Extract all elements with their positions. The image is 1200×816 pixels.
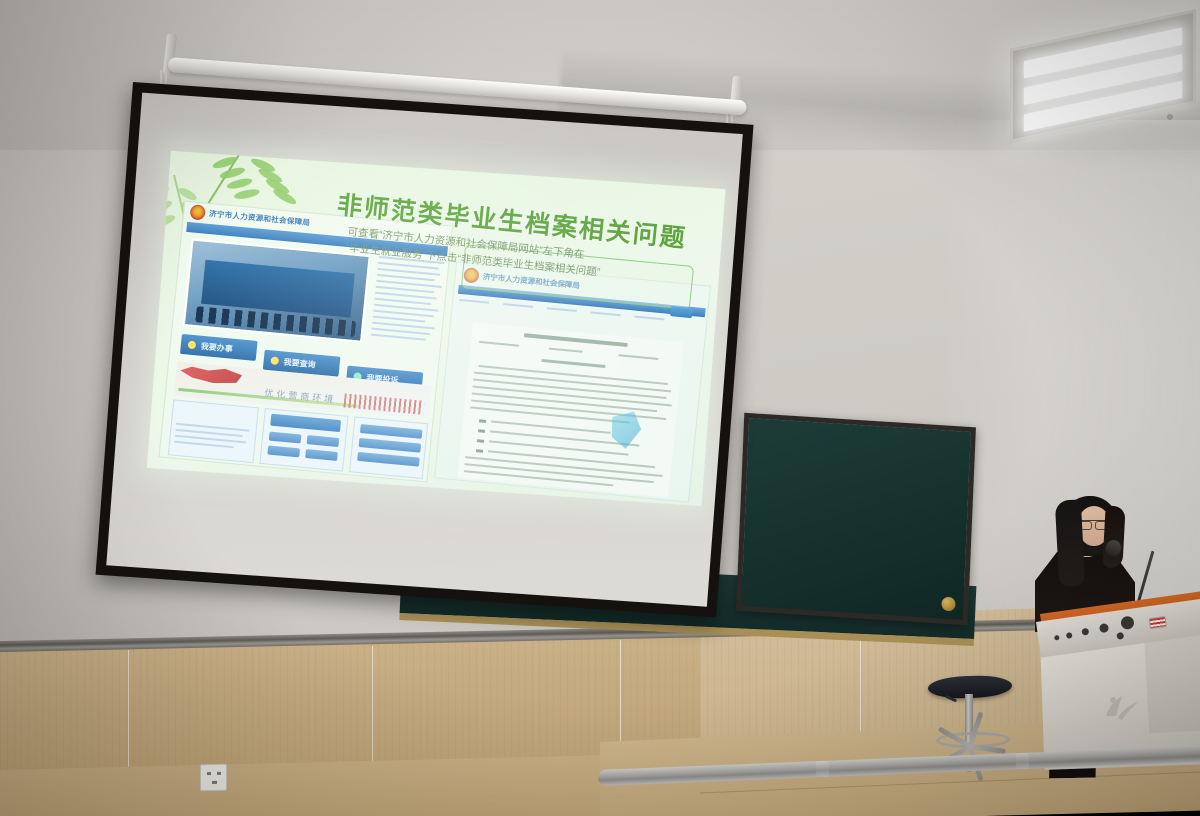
banner-bars-graphic	[343, 393, 424, 414]
podium-button[interactable]	[1066, 632, 1073, 639]
callout-tag	[670, 306, 693, 318]
doc-page	[457, 322, 684, 497]
star-icon	[188, 341, 197, 350]
screen-surface: 济宁市人力资源和社会保障局	[106, 93, 743, 607]
site-hero-image	[183, 238, 371, 342]
outlet-slot	[212, 781, 217, 784]
site-service-button[interactable]: 我要办事	[180, 334, 258, 361]
site-button-label: 我要办事	[200, 340, 233, 354]
outlet-slot	[207, 772, 211, 775]
doc-page-title	[524, 333, 628, 347]
doc-page-subtitle	[541, 359, 605, 368]
map-shape-icon	[179, 364, 242, 386]
site-card[interactable]	[349, 416, 428, 479]
podium-logo-icon	[1100, 690, 1140, 724]
site-card[interactable]	[168, 399, 259, 463]
circle-icon	[270, 356, 279, 365]
projected-slide: 济宁市人力资源和社会保障局	[147, 151, 726, 506]
speaker-hair-strand	[1055, 499, 1085, 586]
site-button-label: 我要查询	[283, 356, 316, 370]
podium-button[interactable]	[1120, 615, 1135, 630]
podium-button[interactable]	[1081, 628, 1089, 636]
handrail-joint	[816, 761, 830, 778]
outlet-slot	[217, 772, 221, 775]
site-banner-label: 优化营商环境	[264, 386, 337, 406]
podium-button[interactable]	[1116, 632, 1124, 640]
national-emblem-icon	[190, 204, 206, 220]
projector-screen: 济宁市人力资源和社会保障局	[96, 82, 754, 617]
podium-button[interactable]	[1099, 623, 1109, 633]
podium-indicator-strip	[1149, 616, 1167, 629]
lecture-hall-scene: 济宁市人力资源和社会保障局	[0, 0, 1200, 816]
site-news-list	[370, 256, 444, 346]
blackboard	[736, 413, 976, 625]
ceiling-sensor-dot	[1167, 114, 1173, 120]
speaker-hair-strand	[1102, 506, 1125, 569]
site-card[interactable]	[259, 408, 348, 472]
handrail-joint	[1016, 753, 1030, 770]
podium-button[interactable]	[1054, 635, 1060, 641]
wall-power-outlet[interactable]	[200, 764, 227, 792]
